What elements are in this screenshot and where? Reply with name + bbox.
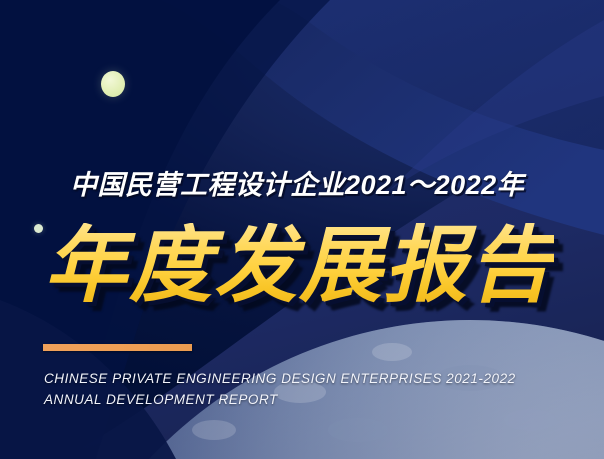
subtitle-english-line-1: CHINESE PRIVATE ENGINEERING DESIGN ENTER… bbox=[44, 368, 516, 389]
subtitle-english: CHINESE PRIVATE ENGINEERING DESIGN ENTER… bbox=[44, 368, 516, 410]
page-title: 年度发展报告 bbox=[44, 223, 554, 309]
subtitle-chinese: 中国民营工程设计企业2021～2022年 bbox=[70, 163, 524, 202]
poster-canvas: 中国民营工程设计企业2021～2022年 年度发展报告 CHINESE PRIV… bbox=[0, 0, 604, 459]
orange-divider bbox=[43, 344, 192, 351]
subtitle-english-line-2: ANNUAL DEVELOPMENT REPORT bbox=[44, 389, 516, 410]
poster-content: 中国民营工程设计企业2021～2022年 年度发展报告 CHINESE PRIV… bbox=[0, 0, 604, 459]
